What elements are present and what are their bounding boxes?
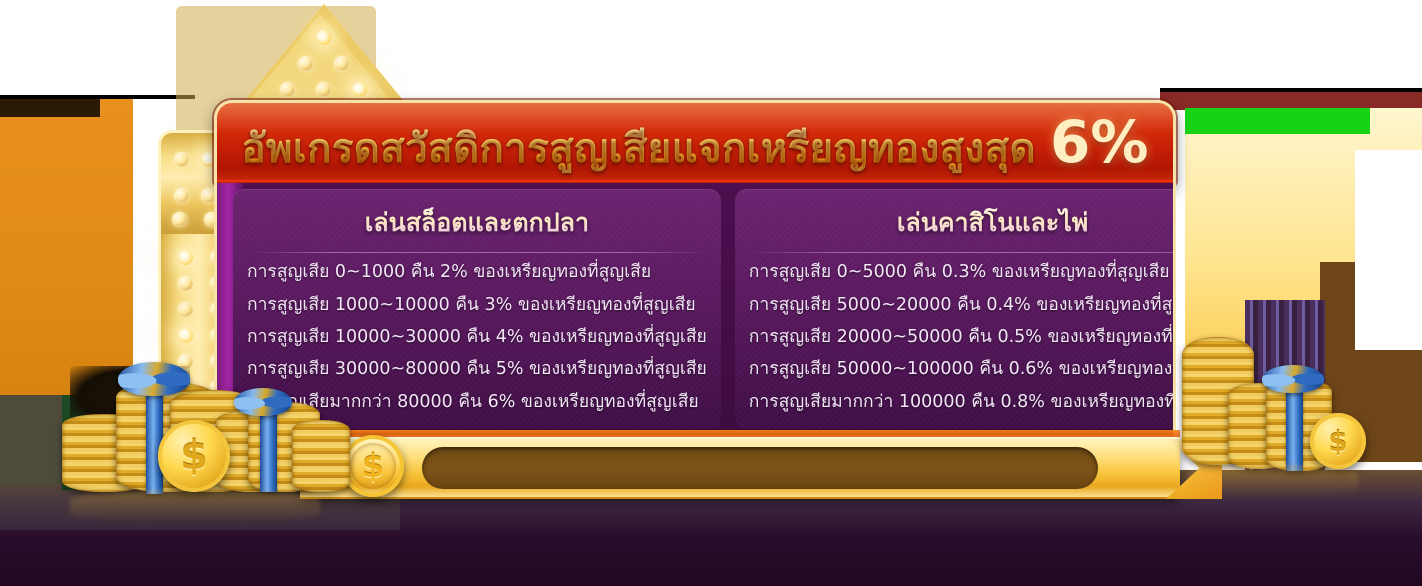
- background-artifact-green-bar: [1185, 108, 1370, 134]
- panel-header-casino-cards: เล่นคาสิโนและไพ่: [749, 197, 1176, 252]
- background-artifact-white-right: [1355, 150, 1422, 350]
- panels-container: เล่นสล็อตและตกปลา การสูญเสีย 0~1000 คืน …: [233, 189, 1163, 429]
- gift-bow: [234, 388, 292, 416]
- promo-banner-root: อัพเกรดสวัสดิการสูญเสียแจกเหรียญทองสูงสุ…: [0, 0, 1422, 586]
- gift-bow: [118, 362, 190, 396]
- dollar-symbol: $: [180, 433, 208, 479]
- title-banner: อัพเกรดสวัสดิการสูญเสียแจกเหรียญทองสูงสุ…: [214, 100, 1176, 185]
- panel-rows-casino-cards: การสูญเสีย 0~5000 คืน 0.3% ของเหรียญทองท…: [749, 257, 1176, 419]
- coin-pile-reflection: [70, 490, 320, 524]
- gold-bar-input-slot[interactable]: [422, 447, 1098, 489]
- large-dollar-coin: $: [158, 420, 230, 492]
- banner-percent-badge: 6%: [1050, 108, 1148, 176]
- coin-pile-right: $: [1178, 335, 1368, 505]
- panel-header-slots-fishing: เล่นสล็อตและตกปลา: [247, 197, 707, 252]
- dollar-coin-right: $: [1310, 413, 1366, 469]
- list-item: การสูญเสีย 50000~100000 คืน 0.6% ของเหรี…: [749, 358, 1176, 382]
- banner-title-text: อัพเกรดสวัสดิการสูญเสียแจกเหรียญทองสูงสุ…: [242, 116, 1036, 180]
- list-item: การสูญเสีย 20000~50000 คืน 0.5% ของเหรีย…: [749, 326, 1176, 350]
- dollar-coin-inner: $: [350, 443, 396, 489]
- promo-body: เล่นสล็อตและตกปลา การสูญเสีย 0~1000 คืน …: [214, 183, 1176, 435]
- gift-ribbon: [260, 406, 277, 492]
- arrow-head-inner: [240, 14, 400, 112]
- list-item: การสูญเสีย 0~1000 คืน 2% ของเหรียญทองที่…: [247, 261, 707, 285]
- background-artifact-black-strip-right: [1160, 88, 1422, 92]
- gift-bow: [1262, 365, 1324, 393]
- gift-ribbon: [1286, 385, 1303, 471]
- coin-stack: [292, 420, 350, 492]
- panel-divider: [749, 252, 1176, 253]
- background-artifact-maroon-right: [1160, 90, 1422, 110]
- dollar-coin-icon: $: [342, 435, 404, 497]
- list-item: การสูญเสีย 0~5000 คืน 0.3% ของเหรียญทองท…: [749, 261, 1176, 285]
- bottom-gold-bar: $: [300, 437, 1220, 499]
- banner-title-group: อัพเกรดสวัสดิการสูญเสียแจกเหรียญทองสูงสุ…: [242, 108, 1149, 180]
- list-item: การสูญเสียมากกว่า 100000 คืน 0.8% ของเหร…: [749, 391, 1176, 415]
- list-item: การสูญเสีย 1000~10000 คืน 3% ของเหรียญทอ…: [247, 294, 707, 318]
- list-item: การสูญเสีย 10000~30000 คืน 4% ของเหรียญท…: [247, 326, 707, 350]
- dollar-symbol: $: [1328, 425, 1347, 458]
- coin-pile-reflection: [1188, 465, 1358, 497]
- coin-pile-left: $: [20, 352, 350, 502]
- dollar-symbol: $: [362, 450, 384, 482]
- background-artifact-orange-left: [0, 95, 133, 395]
- panel-casino-cards: เล่นคาสิโนและไพ่ การสูญเสีย 0~5000 คืน 0…: [735, 189, 1176, 429]
- list-item: การสูญเสีย 5000~20000 คืน 0.4% ของเหรียญ…: [749, 294, 1176, 318]
- panel-divider: [247, 252, 707, 253]
